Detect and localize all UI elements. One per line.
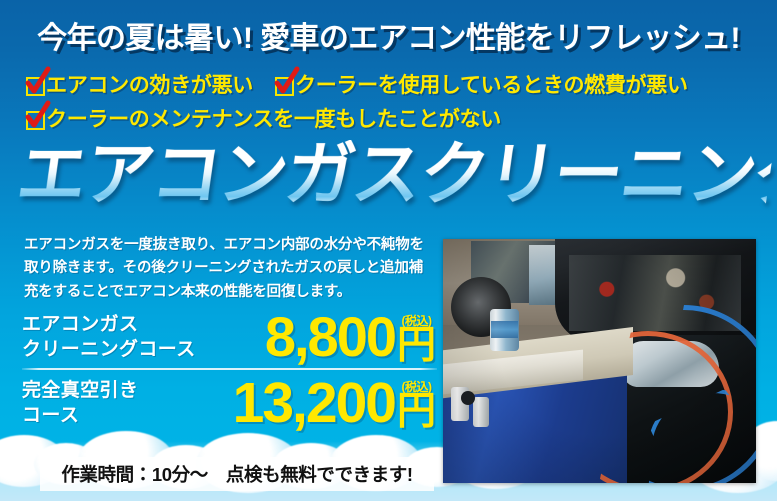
service-info-text: 作業時間：10分〜 点検も無料でできます! [61,461,412,487]
checklist-row: エアコンの効きが悪い クーラーを使用しているときの燃費が悪い [26,70,756,102]
service-info-strip: 作業時間：10分〜 点検も無料でできます! [40,457,434,491]
service-title: エアコンガスクリーニング [13,140,775,209]
checkbox-checked-icon [26,111,45,130]
checklist-item: クーラーのメンテナンスを一度もしたことがない [26,104,501,136]
course-name: 完全真空引き コース [22,378,200,428]
checklist-item: クーラーを使用しているときの燃費が悪い [275,70,688,102]
checkbox-checked-icon [26,77,45,96]
checklist-item-label: エアコンの効きが悪い [46,70,253,102]
service-description: エアコンガスを一度抜き取り、エアコン内部の水分や不純物を取り除きます。その後クリ… [24,234,428,304]
course-name-line1: 完全真空引き [22,380,138,401]
currency-unit: 円 [397,394,436,430]
headline: 今年の夏は暑い! 愛車のエアコン性能をリフレッシュ! [0,22,777,55]
course-name-line2: クリーニングコース [22,339,196,360]
course-name: エアコンガス クリーニングコース [22,312,200,362]
course-name-line2: コース [22,405,79,426]
checklist-item: エアコンの効きが悪い [26,70,253,102]
price-value: 13,200 [233,376,395,430]
benefits-checklist: エアコンの効きが悪い クーラーを使用しているときの燃費が悪い クーラーのメンテナ [26,70,756,137]
price-amount: 8,800 (税込) 円 [200,310,442,363]
price-list: エアコンガス クリーニングコース 8,800 (税込) 円 完全真空引き コース… [22,306,442,436]
currency-unit: 円 [397,328,436,364]
price-amount: 13,200 (税込) 円 [200,376,442,430]
service-photo [443,239,756,483]
ad-banner: 今年の夏は暑い! 愛車のエアコン性能をリフレッシュ! エアコンの効きが悪い クー… [0,0,777,501]
yen-group: (税込) 円 [397,315,436,364]
price-value: 8,800 [265,310,395,363]
checklist-item-label: クーラーのメンテナンスを一度もしたことがない [46,104,501,136]
price-row: 完全真空引き コース 13,200 (税込) 円 [22,370,442,436]
yen-group: (税込) 円 [397,381,436,430]
price-row: エアコンガス クリーニングコース 8,800 (税込) 円 [22,306,442,368]
checkbox-checked-icon [275,77,294,96]
course-name-line1: エアコンガス [22,314,138,335]
checklist-item-label: クーラーを使用しているときの燃費が悪い [295,70,688,102]
photo-vignette [443,239,756,483]
checklist-row: クーラーのメンテナンスを一度もしたことがない [26,104,756,136]
